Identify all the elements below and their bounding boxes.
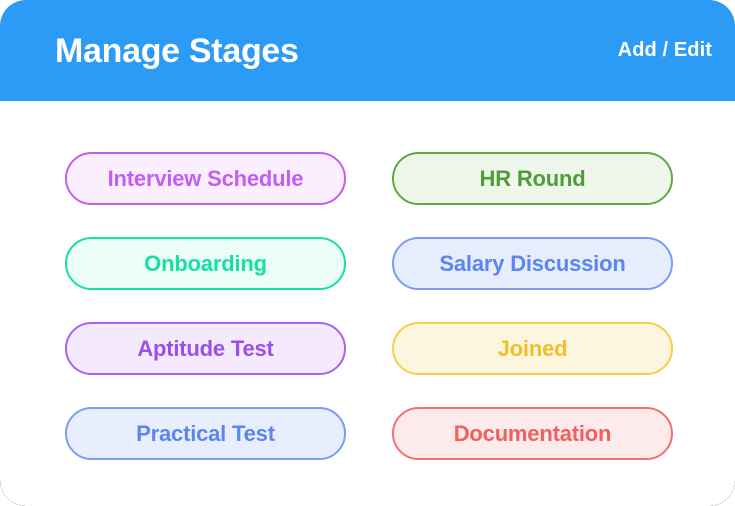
stage-chip-onboarding[interactable]: Onboarding (65, 237, 346, 290)
stage-row: Onboarding Salary Discussion (65, 237, 673, 290)
stage-row: Interview Schedule HR Round (65, 152, 673, 205)
stage-chip-label: Practical Test (136, 421, 275, 447)
stage-chip-label: Joined (498, 336, 568, 362)
card-corner-bottom-right (705, 476, 735, 506)
stage-row: Practical Test Documentation (65, 407, 673, 460)
stage-chip-label: Aptitude Test (137, 336, 273, 362)
card-corner-bottom-left (0, 476, 30, 506)
stage-chip-label: Salary Discussion (439, 251, 625, 277)
stage-row: Aptitude Test Joined (65, 322, 673, 375)
stage-chip-hr-round[interactable]: HR Round (392, 152, 673, 205)
stage-chip-interview-schedule[interactable]: Interview Schedule (65, 152, 346, 205)
stage-chip-salary-discussion[interactable]: Salary Discussion (392, 237, 673, 290)
header-bar: Manage Stages Add / Edit (0, 0, 735, 101)
stage-chip-label: Interview Schedule (108, 166, 304, 192)
add-edit-button[interactable]: Add / Edit (618, 39, 712, 62)
stage-chip-documentation[interactable]: Documentation (392, 407, 673, 460)
page-title: Manage Stages (55, 34, 299, 68)
stage-chip-aptitude-test[interactable]: Aptitude Test (65, 322, 346, 375)
manage-stages-card: Manage Stages Add / Edit Interview Sched… (0, 0, 735, 506)
stage-chip-joined[interactable]: Joined (392, 322, 673, 375)
stage-chip-label: Onboarding (144, 251, 267, 277)
stage-chip-label: HR Round (480, 166, 586, 192)
stage-chip-label: Documentation (454, 421, 612, 447)
stage-list: Interview Schedule HR Round Onboarding S… (0, 101, 735, 460)
stage-chip-practical-test[interactable]: Practical Test (65, 407, 346, 460)
